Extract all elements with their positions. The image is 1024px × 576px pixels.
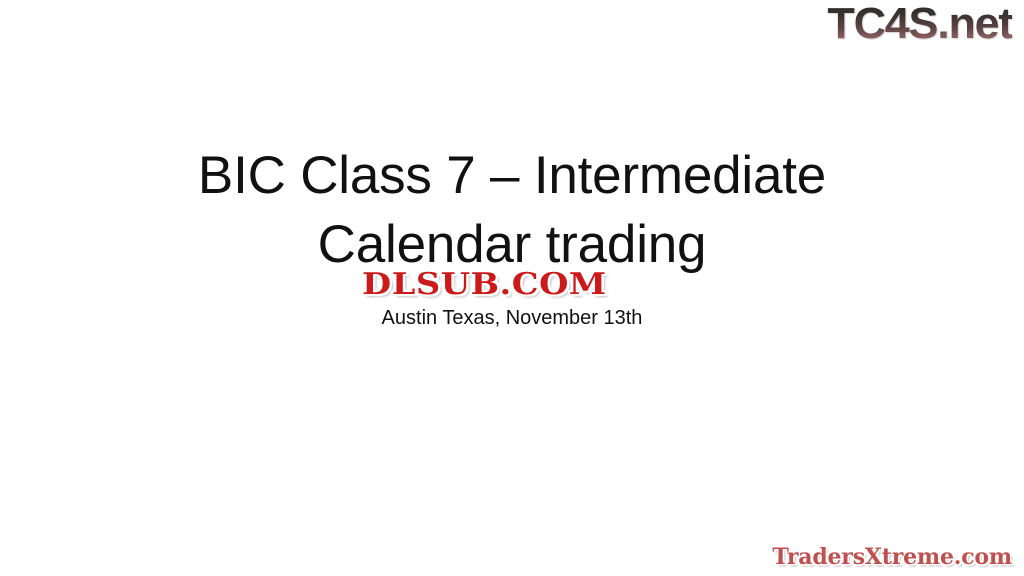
title-block: BIC Class 7 – Intermediate Calendar trad…	[96, 142, 928, 280]
dlsub-watermark: DLSUB.COM	[362, 270, 607, 300]
presentation-slide: TC4S.net BIC Class 7 – Intermediate Cale…	[0, 0, 1024, 576]
subtitle-block: Austin Texas, November 13th	[96, 306, 928, 330]
tc4s-watermark: TC4S.net	[827, 2, 1012, 46]
tradersxtreme-watermark: TradersXtreme.com	[772, 546, 1012, 568]
page-title: BIC Class 7 – Intermediate Calendar trad…	[96, 142, 928, 280]
slide-subtitle: Austin Texas, November 13th	[96, 306, 928, 330]
